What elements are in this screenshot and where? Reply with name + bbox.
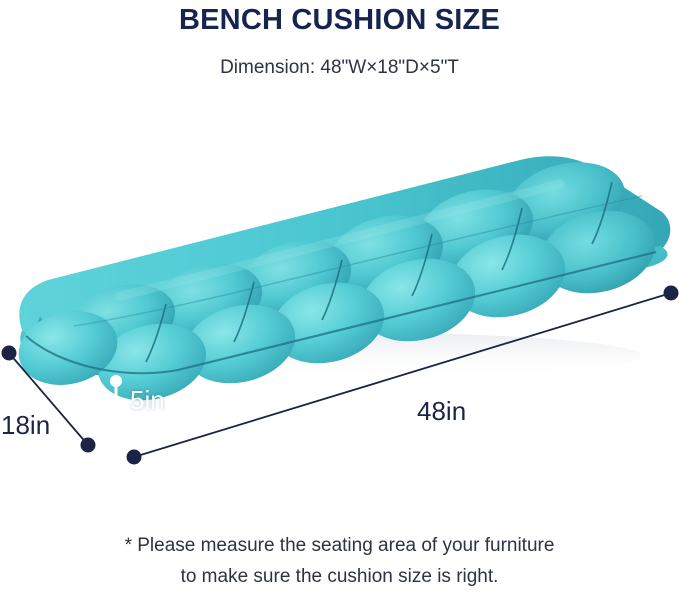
width-dimension-label: 48in — [417, 396, 466, 427]
thickness-dimension-label: 5in — [130, 385, 165, 416]
footnote-line-2: to make sure the cushion size is right. — [0, 561, 679, 592]
footnote: * Please measure the seating area of you… — [0, 530, 679, 592]
bench-cushion-image — [0, 120, 679, 470]
depth-dimension-label: 18in — [1, 410, 50, 441]
product-dimension-infographic: BENCH CUSHION SIZE Dimension: 48"W×18"D×… — [0, 0, 679, 595]
dimension-subtitle: Dimension: 48"W×18"D×5"T — [0, 57, 679, 79]
footnote-line-1: * Please measure the seating area of you… — [0, 530, 679, 561]
page-title: BENCH CUSHION SIZE — [0, 4, 679, 37]
